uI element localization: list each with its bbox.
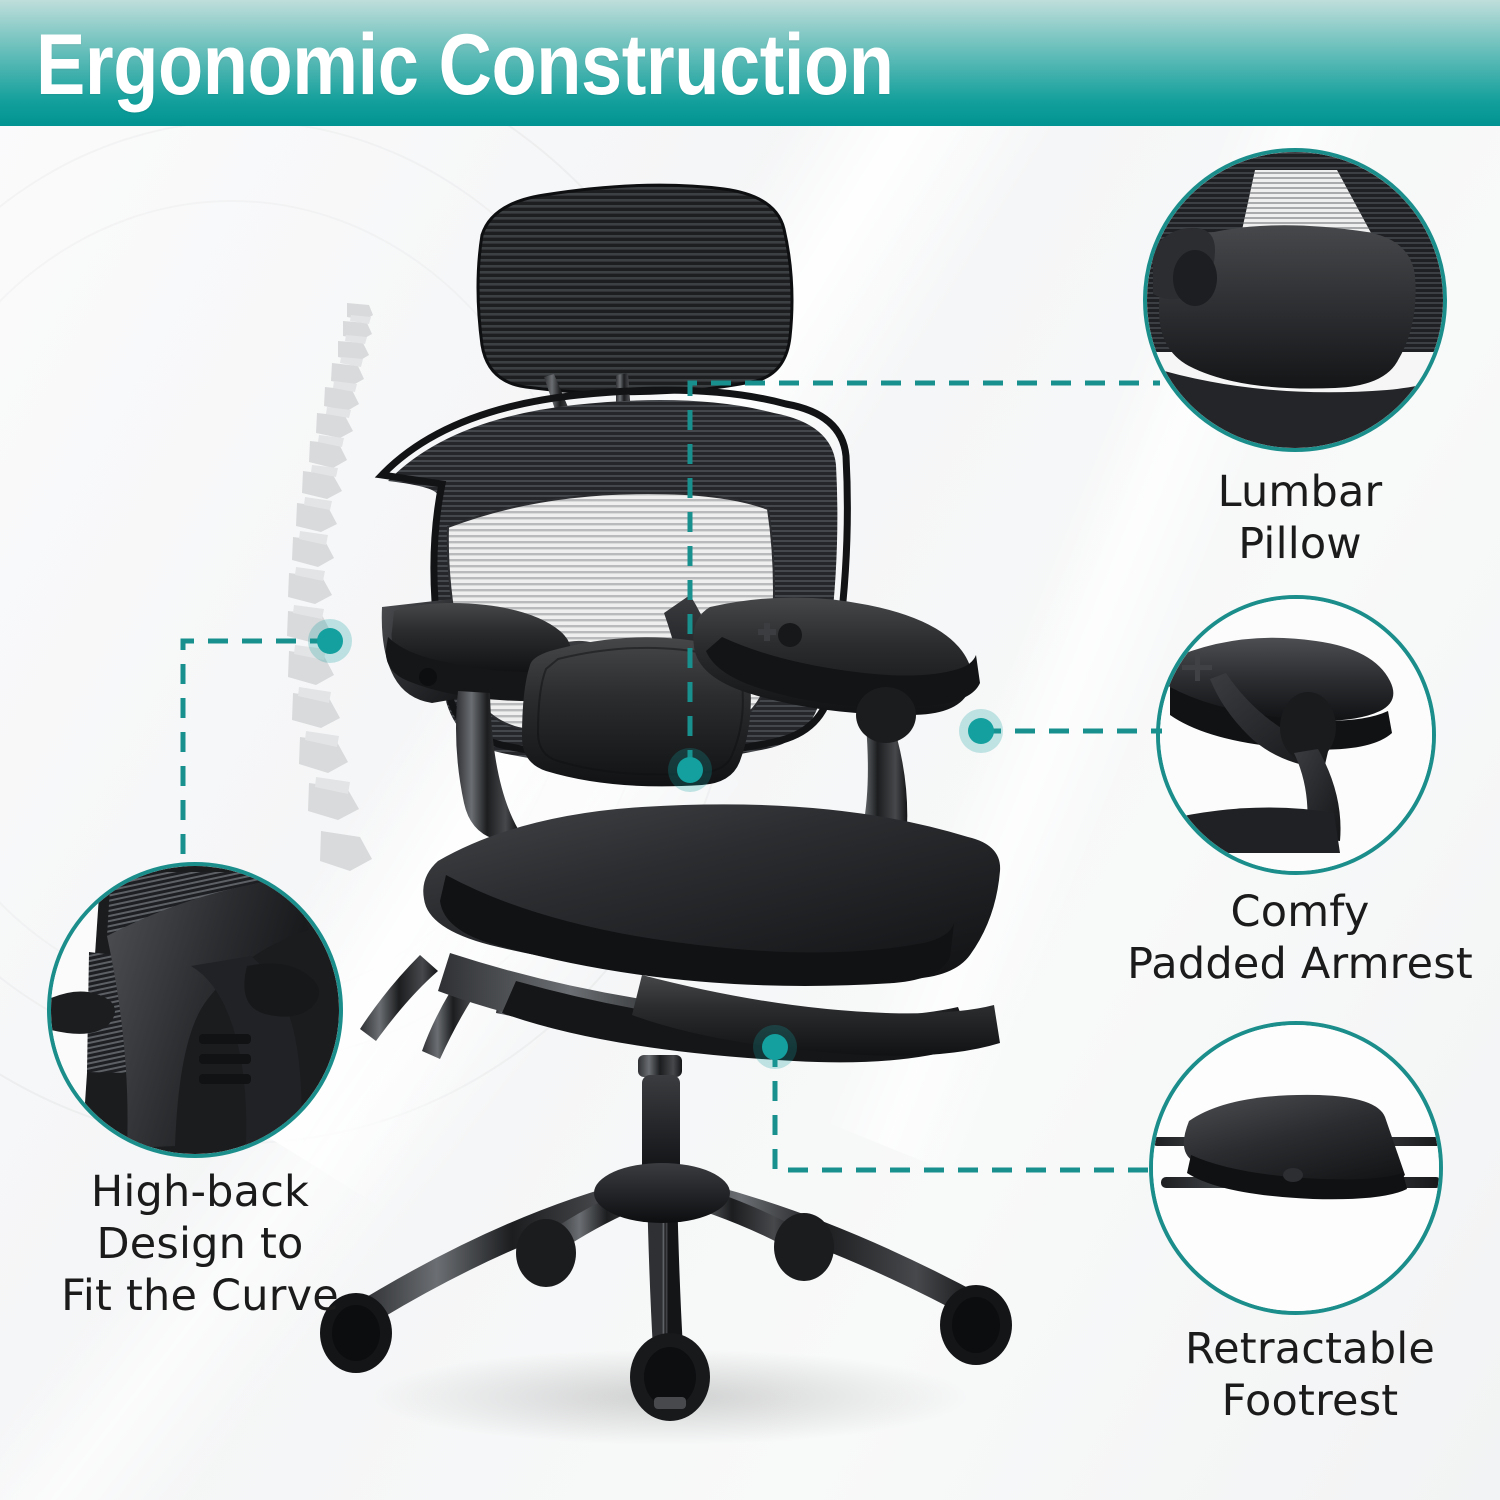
hotspot-spine-dot[interactable] — [317, 628, 343, 654]
infographic-page: Ergonomic Construction — [0, 0, 1500, 1500]
product-chair-illustration — [270, 175, 1050, 1465]
hotspot-footrest-dot[interactable] — [762, 1034, 788, 1060]
callout-label-high-back-design: High-back Design to Fit the Curve — [30, 1166, 370, 1322]
callout-label-lumbar-pillow: Lumbar Pillow — [1130, 466, 1470, 570]
callout-label-retractable-footrest: Retractable Footrest — [1120, 1323, 1500, 1427]
callout-comfy-padded-armrest[interactable] — [1156, 595, 1436, 875]
callout-retractable-footrest[interactable] — [1149, 1021, 1443, 1315]
hotspot-armrest-dot[interactable] — [968, 718, 994, 744]
callout-lumbar-pillow[interactable] — [1143, 148, 1447, 452]
page-title: Ergonomic Construction — [36, 10, 894, 120]
callout-high-back-design[interactable] — [47, 862, 343, 1158]
header-banner: Ergonomic Construction — [0, 0, 1500, 126]
callout-label-comfy-padded-armrest: Comfy Padded Armrest — [1100, 886, 1500, 990]
hotspot-headrest-dot[interactable] — [677, 757, 703, 783]
